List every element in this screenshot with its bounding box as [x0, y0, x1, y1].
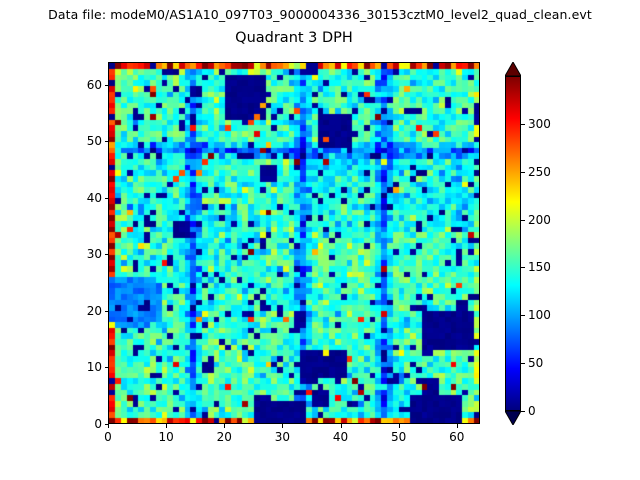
colorbar-tick-mark — [521, 363, 525, 364]
x-tick-label: 20 — [217, 430, 232, 444]
y-tick-label: 10 — [62, 360, 102, 374]
colorbar-tick-mark — [521, 220, 525, 221]
x-tick-label: 0 — [104, 430, 112, 444]
y-tick-label: 50 — [62, 134, 102, 148]
colorbar-tick-label: 100 — [528, 308, 551, 322]
x-tick-label: 60 — [449, 430, 464, 444]
x-tick-mark — [224, 424, 225, 428]
colorbar-tick-label: 0 — [528, 404, 536, 418]
colorbar-tick-mark — [521, 315, 525, 316]
y-tick-mark — [105, 254, 109, 255]
colorbar-tick-label: 200 — [528, 213, 551, 227]
x-tick-label: 10 — [158, 430, 173, 444]
x-tick-mark — [341, 424, 342, 428]
y-tick-mark — [105, 311, 109, 312]
heatmap-image[interactable] — [109, 63, 479, 423]
y-tick-mark — [105, 85, 109, 86]
colorbar-tick-mark — [521, 267, 525, 268]
colorbar[interactable] — [505, 62, 521, 425]
y-tick-label: 60 — [62, 78, 102, 92]
y-tick-mark — [105, 141, 109, 142]
y-tick-label: 30 — [62, 247, 102, 261]
colorbar-tick-label: 250 — [528, 165, 551, 179]
x-tick-mark — [108, 424, 109, 428]
page-title: Quadrant 3 DPH — [108, 30, 480, 46]
y-tick-label: 40 — [62, 191, 102, 205]
colorbar-gradient — [506, 77, 520, 410]
y-tick-mark — [105, 424, 109, 425]
heatmap-axes[interactable] — [108, 62, 480, 424]
x-tick-label: 50 — [391, 430, 406, 444]
x-tick-mark — [282, 424, 283, 428]
x-tick-mark — [399, 424, 400, 428]
colorbar-tick-label: 50 — [528, 356, 543, 370]
colorbar-tick-mark — [521, 411, 525, 412]
x-tick-mark — [166, 424, 167, 428]
y-tick-label: 20 — [62, 304, 102, 318]
y-tick-mark — [105, 198, 109, 199]
data-file-caption: Data file: modeM0/AS1A10_097T03_90000043… — [0, 7, 640, 22]
colorbar-tick-mark — [521, 172, 525, 173]
y-tick-label: 0 — [62, 417, 102, 431]
x-tick-label: 40 — [333, 430, 348, 444]
colorbar-tick-label: 150 — [528, 260, 551, 274]
colorbar-extend-min-arrow — [505, 411, 521, 425]
colorbar-tick-mark — [521, 124, 525, 125]
x-tick-label: 30 — [275, 430, 290, 444]
figure-canvas: Data file: modeM0/AS1A10_097T03_90000043… — [0, 0, 640, 480]
colorbar-extend-max-arrow — [505, 62, 521, 76]
y-tick-mark — [105, 367, 109, 368]
colorbar-tick-label: 300 — [528, 117, 551, 131]
x-tick-mark — [457, 424, 458, 428]
colorbar-gradient-body[interactable] — [505, 76, 521, 411]
